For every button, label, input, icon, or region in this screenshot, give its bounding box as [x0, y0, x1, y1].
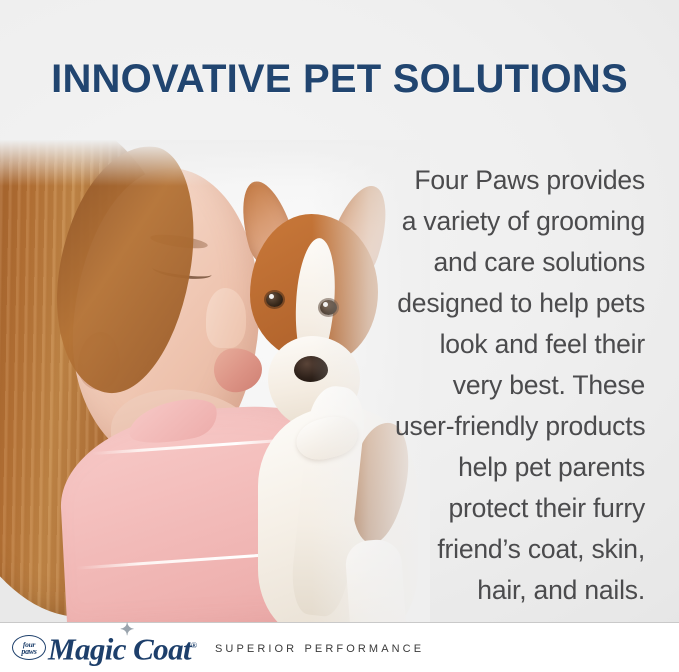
girl-nose	[206, 288, 246, 348]
body-line: Four Paws provides	[395, 160, 645, 201]
body-line: very best. These	[395, 365, 645, 406]
body-line: hair, and nails.	[395, 570, 645, 611]
body-line: help pet parents	[395, 447, 645, 488]
puppy-eye-left	[266, 292, 283, 307]
four-paws-logo-icon: four paws	[12, 635, 46, 660]
page-title: INNOVATIVE PET SOLUTIONS	[0, 56, 679, 102]
magic-coat-wordmark: ✦ Magic Coat®	[48, 629, 197, 666]
body-line: designed to help pets	[395, 283, 645, 324]
body-copy-paragraph: Four Paws provides a variety of grooming…	[395, 160, 645, 611]
registered-trademark-icon: ®	[191, 641, 197, 650]
body-line: look and feel their	[395, 324, 645, 365]
brand-footer: four paws ✦ Magic Coat® Superior Perform…	[0, 623, 679, 672]
body-line: a variety of grooming	[395, 201, 645, 242]
body-line: friend’s coat, skin,	[395, 529, 645, 570]
tagline: Superior Performance	[215, 639, 424, 657]
body-line: protect their furry	[395, 488, 645, 529]
lifestyle-photo-girl-kissing-puppy	[0, 140, 430, 622]
body-line: user-friendly products	[395, 406, 645, 447]
advertisement-banner: INNOVATIVE PET SOLUTIONS Four Paws provi…	[0, 0, 679, 672]
photo-top-fade	[0, 140, 430, 186]
star-icon: ✦	[120, 622, 135, 637]
four-paws-logo-line2: paws	[21, 648, 36, 655]
body-line: and care solutions	[395, 242, 645, 283]
